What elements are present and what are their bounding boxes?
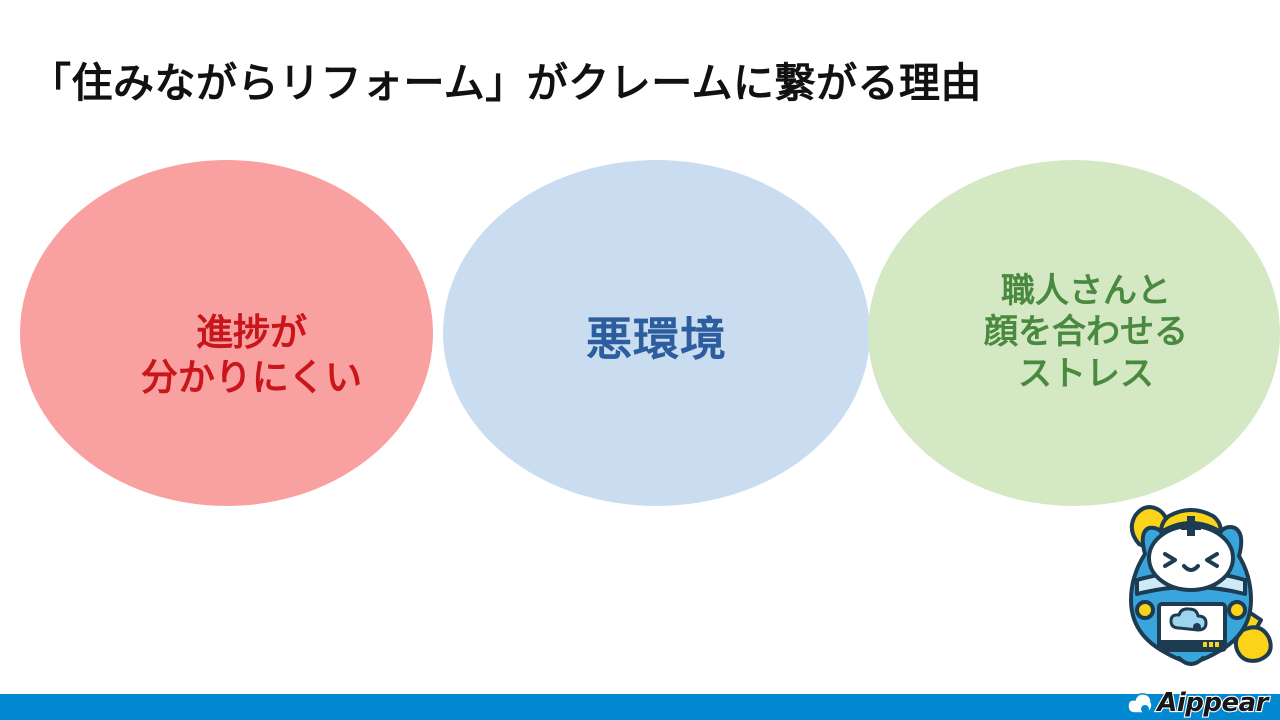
circle-stress-label: 職人さんと 顔を合わせる ストレス: [984, 271, 1188, 395]
brand-logo: Aippear: [1127, 689, 1268, 719]
circle-progress: 進捗が 分かりにくい: [20, 160, 433, 506]
mascot-robot-icon: [1105, 492, 1277, 668]
slide-canvas: 「住みながらリフォーム」がクレームに繋がる理由 進捗が 分かりにくい 悪環境 職…: [0, 0, 1280, 720]
circle-environment-label: 悪環境: [586, 311, 727, 367]
brand-logo-text: Aippear: [1157, 690, 1268, 716]
circle-group: 進捗が 分かりにくい 悪環境 職人さんと 顔を合わせる ストレス: [0, 0, 1280, 720]
circle-stress: 職人さんと 顔を合わせる ストレス: [868, 160, 1280, 506]
cloud-icon: [1127, 692, 1154, 716]
footer-bar: [0, 694, 1280, 720]
circle-progress-label: 進捗が 分かりにくい: [141, 310, 362, 400]
circle-environment: 悪環境: [443, 160, 870, 506]
